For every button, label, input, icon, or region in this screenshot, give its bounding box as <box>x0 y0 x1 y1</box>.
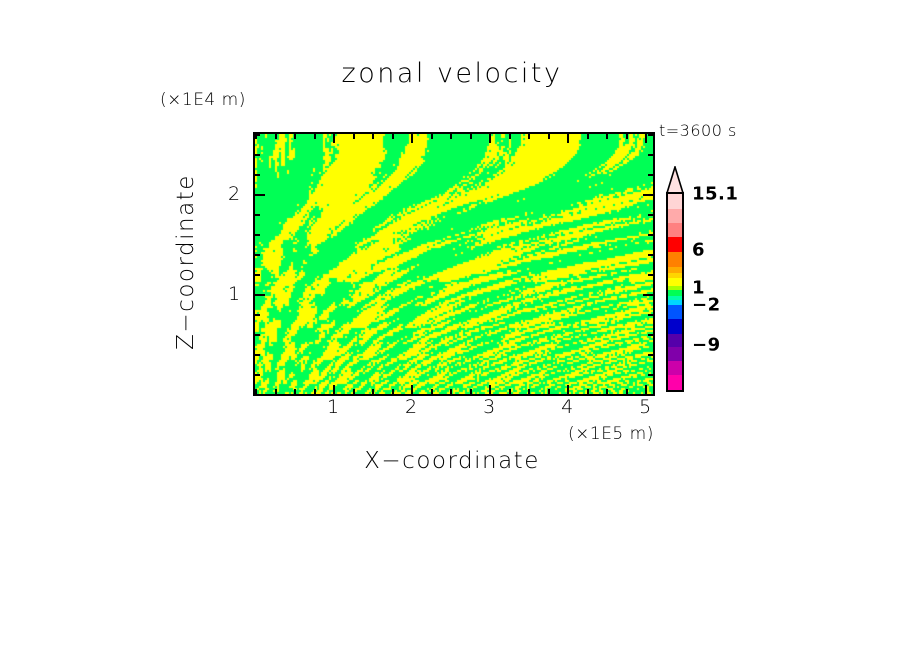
time-annotation: t=3600 s <box>659 121 737 140</box>
y-axis-minor-tick <box>255 354 260 356</box>
colorbar-tick-label: −2 <box>692 295 721 316</box>
y-axis-major-tick-right <box>643 294 653 296</box>
colorbar-band <box>668 278 682 285</box>
x-axis-minor-tick-top <box>450 134 452 139</box>
x-axis-minor-tick-top <box>431 134 433 139</box>
x-axis-minor-tick <box>528 389 530 394</box>
colorbar-band <box>668 361 682 375</box>
y-axis-minor-tick <box>255 154 260 156</box>
y-axis-major-tick <box>255 294 265 296</box>
x-axis-major-tick-top <box>645 134 647 143</box>
y-axis-title: Z−coordinate <box>173 174 199 350</box>
x-axis-major-tick <box>645 385 647 394</box>
colorbar <box>664 166 686 392</box>
x-axis-minor-tick <box>470 389 472 394</box>
page-title: zonal velocity <box>0 58 904 89</box>
x-axis-major-tick-top <box>489 134 491 143</box>
x-axis-minor-tick <box>294 389 296 394</box>
x-axis-major-tick <box>411 385 413 394</box>
y-axis-minor-tick <box>255 214 260 216</box>
y-axis-minor-tick <box>255 314 260 316</box>
y-axis-minor-tick <box>255 134 260 136</box>
x-axis-major-tick <box>333 385 335 394</box>
x-axis-minor-tick <box>372 389 374 394</box>
colorbar-band <box>668 194 682 209</box>
plot-area <box>253 132 655 396</box>
x-axis-minor-tick-top <box>626 134 628 139</box>
x-axis-minor-tick-top <box>470 134 472 139</box>
x-axis-minor-tick-top <box>275 134 277 139</box>
x-axis-major-tick-top <box>567 134 569 143</box>
x-axis-minor-tick <box>606 389 608 394</box>
x-axis-minor-tick-top <box>392 134 394 139</box>
colorbar-band <box>668 223 682 237</box>
y-axis-minor-tick-right <box>648 334 653 336</box>
colorbar-band <box>668 375 682 390</box>
x-axis-minor-tick <box>626 389 628 394</box>
colorbar-band <box>668 209 682 223</box>
colorbar-tick-label: 15.1 <box>692 184 738 205</box>
x-axis-minor-tick <box>548 389 550 394</box>
x-axis-minor-tick <box>509 389 511 394</box>
x-axis-minor-tick-top <box>294 134 296 139</box>
y-axis-minor-tick-right <box>648 274 653 276</box>
y-axis-tick-label: 1 <box>228 283 240 305</box>
y-axis-minor-tick-right <box>648 254 653 256</box>
x-axis-tick-label: 4 <box>561 396 573 418</box>
x-axis-minor-tick <box>431 389 433 394</box>
y-axis-minor-tick <box>255 274 260 276</box>
x-axis-major-tick <box>567 385 569 394</box>
y-axis-minor-tick-right <box>648 234 653 236</box>
x-axis-tick-label: 5 <box>639 396 651 418</box>
colorbar-arrow-icon <box>664 166 686 194</box>
contour-field-canvas <box>255 134 653 394</box>
y-axis-minor-tick-right <box>648 314 653 316</box>
colorbar-tick-label: −9 <box>692 335 721 356</box>
x-axis-major-tick-top <box>333 134 335 143</box>
y-axis-minor-tick <box>255 174 260 176</box>
x-axis-minor-tick <box>392 389 394 394</box>
x-axis-minor-tick-top <box>314 134 316 139</box>
x-axis-minor-tick-top <box>353 134 355 139</box>
y-axis-minor-tick-right <box>648 374 653 376</box>
x-axis-minor-tick-top <box>528 134 530 139</box>
x-axis-major-tick-top <box>411 134 413 143</box>
colorbar-band <box>668 305 682 320</box>
x-axis-minor-tick <box>275 389 277 394</box>
z-axis-unit-label: (×1E4 m) <box>160 90 246 110</box>
colorbar-tick-label: 6 <box>692 240 705 261</box>
y-axis-minor-tick-right <box>648 214 653 216</box>
x-axis-title: X−coordinate <box>253 448 651 474</box>
y-axis-minor-tick-right <box>648 154 653 156</box>
x-axis-minor-tick-top <box>509 134 511 139</box>
y-axis-minor-tick <box>255 374 260 376</box>
x-axis-minor-tick <box>587 389 589 394</box>
x-axis-minor-tick <box>353 389 355 394</box>
y-axis-major-tick <box>255 194 265 196</box>
x-axis-tick-label: 2 <box>405 396 417 418</box>
y-axis-minor-tick-right <box>648 174 653 176</box>
y-axis-minor-tick <box>255 234 260 236</box>
colorbar-band <box>668 237 682 252</box>
x-axis-unit-label: (×1E5 m) <box>568 424 654 444</box>
x-axis-minor-tick <box>314 389 316 394</box>
x-axis-minor-tick-top <box>372 134 374 139</box>
colorbar-band <box>668 334 682 348</box>
x-axis-minor-tick <box>450 389 452 394</box>
x-axis-minor-tick-top <box>606 134 608 139</box>
colorbar-bands <box>666 192 684 392</box>
colorbar-band <box>668 319 682 334</box>
y-axis-minor-tick <box>255 254 260 256</box>
x-axis-minor-tick-top <box>587 134 589 139</box>
y-axis-minor-tick-right <box>648 354 653 356</box>
y-axis-minor-tick <box>255 394 260 396</box>
colorbar-band <box>668 252 682 267</box>
y-axis-tick-label: 2 <box>228 183 240 205</box>
y-axis-minor-tick <box>255 334 260 336</box>
x-axis-minor-tick-top <box>548 134 550 139</box>
x-axis-tick-label: 1 <box>327 396 339 418</box>
colorbar-band <box>668 347 682 361</box>
y-axis-minor-tick-right <box>648 134 653 136</box>
x-axis-tick-label: 3 <box>483 396 495 418</box>
x-axis-major-tick <box>489 385 491 394</box>
y-axis-major-tick-right <box>643 194 653 196</box>
